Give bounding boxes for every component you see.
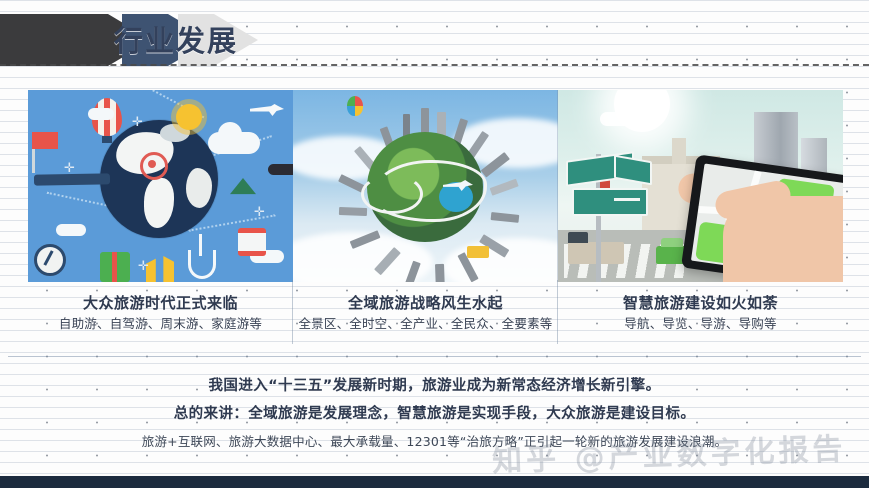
- caption-subtitle: 全景区、全时空、全产业、全民众、全要素等: [293, 314, 558, 334]
- sparkle-icon: ✛: [64, 162, 75, 175]
- slide-canvas: 行业发展: [0, 0, 869, 488]
- sparkle-icon: ✛: [132, 116, 143, 129]
- tiny-planet-city-icon: [341, 108, 509, 266]
- summary-block: 我国进入“十三五”发展新时期，旅游业成为新常态经济增长新引擎。 总的来讲：全域旅…: [0, 372, 869, 456]
- summary-line-3: 旅游+互联网、旅游大数据中心、最大承载量、12301等“治旅方略”正引起一轮新的…: [0, 428, 869, 456]
- caption-subtitle: 自助游、自驾游、周末游、家庭游等: [28, 314, 293, 334]
- sparkle-icon: ✛: [254, 206, 265, 219]
- sun-icon: [176, 104, 202, 130]
- anchor-icon: [188, 250, 216, 279]
- globe-icon: [100, 120, 218, 238]
- luggage-icon: [100, 252, 130, 282]
- photo-smart-tourism: [558, 90, 843, 282]
- street-sign-arrow-icon: [572, 188, 648, 216]
- caption-row: 大众旅游时代正式来临 自助游、自驾游、周末游、家庭游等 全域旅游战略风生水起 全…: [28, 292, 843, 344]
- cloud-icon: [56, 224, 86, 236]
- flag-icon: [32, 132, 58, 149]
- caption-title: 大众旅游时代正式来临: [28, 292, 293, 314]
- photo-row: ✛ ✛ ✛ ✛: [28, 90, 843, 282]
- caption-column-1: 大众旅游时代正式来临 自助游、自驾游、周末游、家庭游等: [28, 292, 293, 344]
- sparkle-icon: ✛: [138, 260, 149, 273]
- summary-line-1: 我国进入“十三五”发展新时期，旅游业成为新常态经济增长新引擎。: [0, 372, 869, 400]
- sunglasses-icon: [268, 164, 293, 175]
- caption-column-2: 全域旅游战略风生水起 全景区、全时空、全产业、全民众、全要素等: [293, 292, 558, 344]
- slide-header: 行业发展: [0, 14, 869, 66]
- camera-icon: [238, 228, 266, 256]
- caption-column-3: 智慧旅游建设如火如荼 导航、导览、导游、导购等: [558, 292, 843, 344]
- page-title: 行业发展: [114, 22, 238, 60]
- photo-regional-tourism: [293, 90, 558, 282]
- caption-title: 智慧旅游建设如火如荼: [558, 292, 843, 314]
- photo-mass-tourism: ✛ ✛ ✛ ✛: [28, 90, 293, 282]
- bottom-bar: [0, 476, 869, 488]
- caption-title: 全域旅游战略风生水起: [293, 292, 558, 314]
- caption-separator-rule: [8, 356, 861, 357]
- cloud-icon: [88, 108, 114, 120]
- cloud-icon: [600, 112, 646, 126]
- compass-icon: [34, 244, 66, 276]
- caption-subtitle: 导航、导览、导游、导购等: [558, 314, 843, 334]
- header-dashed-rule: [0, 64, 869, 66]
- summary-line-2: 总的来讲：全域旅游是发展理念，智慧旅游是实现手段，大众旅游是建设目标。: [0, 400, 869, 428]
- cloud-icon: [208, 132, 260, 154]
